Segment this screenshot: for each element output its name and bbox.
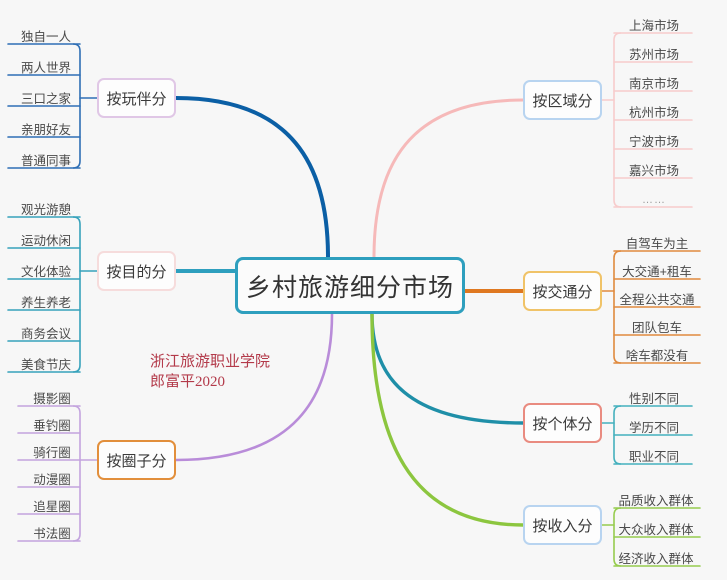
leaf-item-region-4[interactable]: 宁波市场 — [616, 135, 692, 152]
leaf-item-income-0[interactable]: 品质收入群体 — [612, 494, 700, 511]
leaf-item-purpose-0[interactable]: 观光游憩 — [8, 203, 84, 220]
branch-wire-individual — [372, 314, 523, 423]
leaf-item-circle-4[interactable]: 追星圈 — [18, 500, 86, 517]
leaf-item-purpose-2[interactable]: 文化体验 — [8, 265, 84, 282]
branch-node-circle[interactable]: 按圈子分 — [97, 440, 176, 480]
leaf-item-individual-1[interactable]: 学历不同 — [616, 421, 692, 438]
leaf-item-transport-4[interactable]: 啥车都没有 — [614, 349, 700, 366]
branch-wire-region — [374, 100, 523, 257]
branch-wire-play-partner — [176, 98, 328, 257]
branch-node-income[interactable]: 按收入分 — [523, 505, 602, 545]
mindmap-canvas: 乡村旅游细分市场 浙江旅游职业学院 郎富平2020 按玩伴分独自一人两人世界三口… — [0, 0, 727, 580]
leaf-item-income-2[interactable]: 经济收入群体 — [612, 552, 700, 569]
leaf-item-transport-0[interactable]: 自驾车为主 — [614, 237, 700, 254]
leaf-item-play-partner-1[interactable]: 两人世界 — [8, 61, 84, 78]
branch-node-play-partner[interactable]: 按玩伴分 — [97, 78, 176, 118]
leaf-item-circle-1[interactable]: 垂钓圈 — [18, 419, 86, 436]
leaf-item-transport-3[interactable]: 团队包车 — [614, 321, 700, 338]
leaf-item-purpose-3[interactable]: 养生养老 — [8, 296, 84, 313]
leaf-item-transport-1[interactable]: 大交通+租车 — [614, 265, 700, 282]
branch-node-label: 按玩伴分 — [106, 88, 166, 109]
leaf-item-individual-2[interactable]: 职业不同 — [616, 450, 692, 467]
signature-line-2: 郎富平2020 — [150, 372, 270, 392]
branch-node-label: 按区域分 — [532, 90, 592, 111]
leaf-item-income-1[interactable]: 大众收入群体 — [612, 523, 700, 540]
branch-node-label: 按目的分 — [106, 261, 166, 282]
leaf-item-region-6[interactable]: …… — [616, 193, 692, 210]
central-topic-node[interactable]: 乡村旅游细分市场 — [235, 257, 465, 314]
signature-line-1: 浙江旅游职业学院 — [150, 352, 270, 372]
branch-node-label: 按收入分 — [532, 515, 592, 536]
leaf-item-region-1[interactable]: 苏州市场 — [616, 48, 692, 65]
leaf-item-play-partner-0[interactable]: 独自一人 — [8, 30, 84, 47]
branch-node-label: 按圈子分 — [106, 450, 166, 471]
leaf-item-region-2[interactable]: 南京市场 — [616, 77, 692, 94]
branch-wire-income — [372, 314, 523, 525]
leaf-item-transport-2[interactable]: 全程公共交通 — [614, 293, 700, 310]
leaf-item-region-0[interactable]: 上海市场 — [616, 19, 692, 36]
leaf-item-region-5[interactable]: 嘉兴市场 — [616, 164, 692, 181]
branch-node-individual[interactable]: 按个体分 — [523, 403, 602, 443]
leaf-item-purpose-5[interactable]: 美食节庆 — [8, 358, 84, 375]
leaf-item-purpose-1[interactable]: 运动休闲 — [8, 234, 84, 251]
leaf-item-play-partner-2[interactable]: 三口之家 — [8, 92, 84, 109]
leaf-item-play-partner-4[interactable]: 普通同事 — [8, 154, 84, 171]
branch-node-region[interactable]: 按区域分 — [523, 80, 602, 120]
signature-credit: 浙江旅游职业学院 郎富平2020 — [150, 352, 270, 392]
leaf-item-region-3[interactable]: 杭州市场 — [616, 106, 692, 123]
branch-node-label: 按交通分 — [532, 281, 592, 302]
leaf-item-circle-2[interactable]: 骑行圈 — [18, 446, 86, 463]
leaf-item-purpose-4[interactable]: 商务会议 — [8, 327, 84, 344]
leaf-item-circle-0[interactable]: 摄影圈 — [18, 392, 86, 409]
leaf-item-individual-0[interactable]: 性别不同 — [616, 392, 692, 409]
leaf-item-circle-3[interactable]: 动漫圈 — [18, 473, 86, 490]
branch-node-label: 按个体分 — [532, 413, 592, 434]
branch-node-transport[interactable]: 按交通分 — [523, 271, 602, 311]
leaf-item-play-partner-3[interactable]: 亲朋好友 — [8, 123, 84, 140]
branch-node-purpose[interactable]: 按目的分 — [97, 251, 176, 291]
leaf-item-circle-5[interactable]: 书法圈 — [18, 527, 86, 544]
